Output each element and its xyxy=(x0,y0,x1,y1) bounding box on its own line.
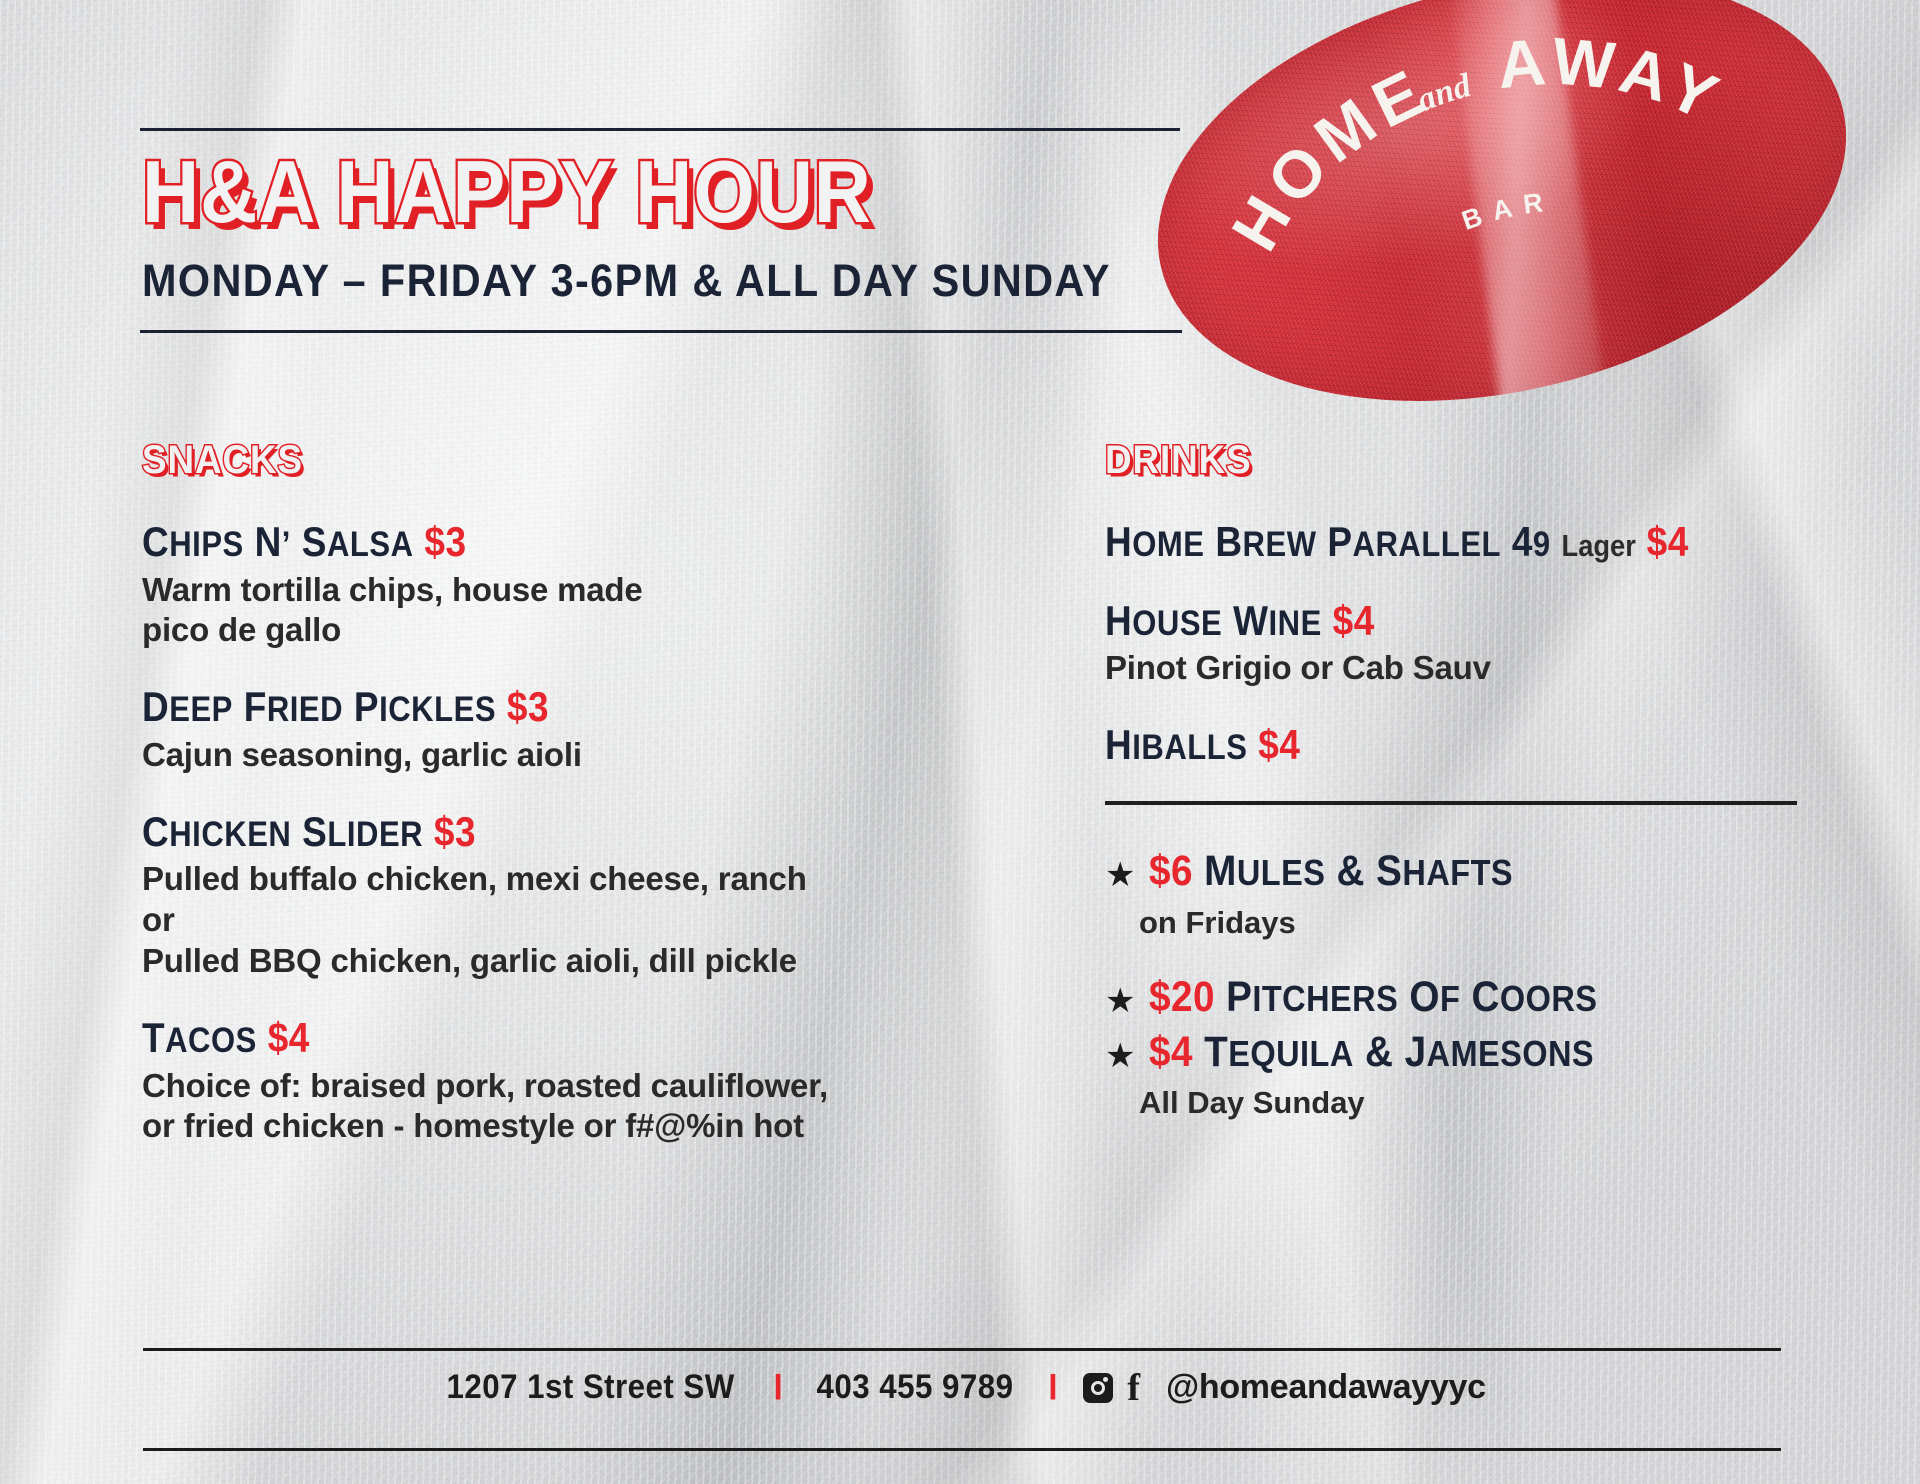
item-name: HIBALLS $4 xyxy=(1105,723,1721,768)
logo-arc-svg: HOME and AWAY BAR xyxy=(1115,0,1888,465)
special-note: on Fridays xyxy=(1139,905,1805,941)
star-icon: ★ xyxy=(1105,1039,1135,1073)
header-rule-top xyxy=(140,128,1180,131)
drinks-heading: DRINKS xyxy=(1105,440,1252,480)
special-note: All Day Sunday xyxy=(1139,1085,1805,1121)
drinks-column: DRINKS HOME BREW PARALLEL 49 Lager $4 HO… xyxy=(1105,440,1805,1121)
menu-item: HIBALLS $4 xyxy=(1105,723,1805,768)
social-handle[interactable]: @homeandawayyyc xyxy=(1166,1368,1486,1407)
menu-page: H&A HAPPY HOUR MONDAY – FRIDAY 3-6PM & A… xyxy=(0,0,1920,1484)
item-description: Warm tortilla chips, house madepico de g… xyxy=(142,570,1002,652)
item-description: Choice of: braised pork, roasted caulifl… xyxy=(142,1066,1002,1148)
special-item: ★ $6 MULES & SHAFTS xyxy=(1105,849,1805,894)
footer-separator: I xyxy=(774,1366,783,1409)
home-and-away-logo: HOME and AWAY BAR xyxy=(1115,0,1888,465)
logo-word-bar: BAR xyxy=(1457,183,1558,237)
menu-item: CHICKEN SLIDER $3 Pulled buffalo chicken… xyxy=(142,810,1002,982)
item-name: HOUSE WINE $4 xyxy=(1105,599,1721,644)
star-icon: ★ xyxy=(1105,984,1135,1018)
footer-separator: I xyxy=(1048,1366,1057,1409)
specials-divider xyxy=(1105,801,1797,805)
happy-hour-times: MONDAY – FRIDAY 3-6PM & ALL DAY SUNDAY xyxy=(142,258,1111,303)
logo-word-away: AWAY xyxy=(1484,0,1748,180)
menu-item: DEEP FRIED PICKLES $3 Cajun seasoning, g… xyxy=(142,685,1002,775)
header-rule-bottom xyxy=(140,330,1182,333)
footer-rule-bottom xyxy=(143,1448,1781,1451)
footer-rule-top xyxy=(143,1348,1781,1351)
star-icon: ★ xyxy=(1105,858,1135,892)
special-title: $4 TEQUILA & JAMESONS xyxy=(1149,1030,1739,1075)
footer-address: 1207 1st Street SW xyxy=(447,1368,735,1407)
item-description: Pulled buffalo chicken, mexi cheese, ran… xyxy=(142,859,1002,982)
item-name: TACOS $4 xyxy=(142,1016,899,1061)
item-name: HOME BREW PARALLEL 49 Lager $4 xyxy=(1105,520,1721,565)
item-description: Pinot Grigio or Cab Sauv xyxy=(1105,648,1805,689)
item-description: Cajun seasoning, garlic aioli xyxy=(142,735,1002,776)
special-title: $20 PITCHERS OF COORS xyxy=(1149,975,1739,1020)
special-item: ★ $20 PITCHERS OF COORS xyxy=(1105,975,1805,1020)
menu-item: HOME BREW PARALLEL 49 Lager $4 xyxy=(1105,520,1805,565)
footer: 1207 1st Street SW I 403 455 9789 I f @h… xyxy=(0,1348,1920,1468)
item-name: CHICKEN SLIDER $3 xyxy=(142,810,899,855)
menu-item: HOUSE WINE $4 Pinot Grigio or Cab Sauv xyxy=(1105,599,1805,689)
snacks-column: SNACKS CHIPS N’ SALSA $3 Warm tortilla c… xyxy=(142,440,1002,1181)
snacks-heading: SNACKS xyxy=(142,440,303,480)
special-title: $6 MULES & SHAFTS xyxy=(1149,849,1739,894)
facebook-icon[interactable]: f xyxy=(1127,1369,1140,1407)
menu-item: TACOS $4 Choice of: braised pork, roaste… xyxy=(142,1016,1002,1147)
special-item: ★ $4 TEQUILA & JAMESONS xyxy=(1105,1030,1805,1075)
footer-phone[interactable]: 403 455 9789 xyxy=(817,1368,1014,1407)
instagram-icon[interactable] xyxy=(1083,1373,1113,1403)
item-name: DEEP FRIED PICKLES $3 xyxy=(142,685,899,730)
page-title: H&A HAPPY HOUR xyxy=(142,152,872,233)
menu-item: CHIPS N’ SALSA $3 Warm tortilla chips, h… xyxy=(142,520,1002,651)
item-name: CHIPS N’ SALSA $3 xyxy=(142,520,899,565)
